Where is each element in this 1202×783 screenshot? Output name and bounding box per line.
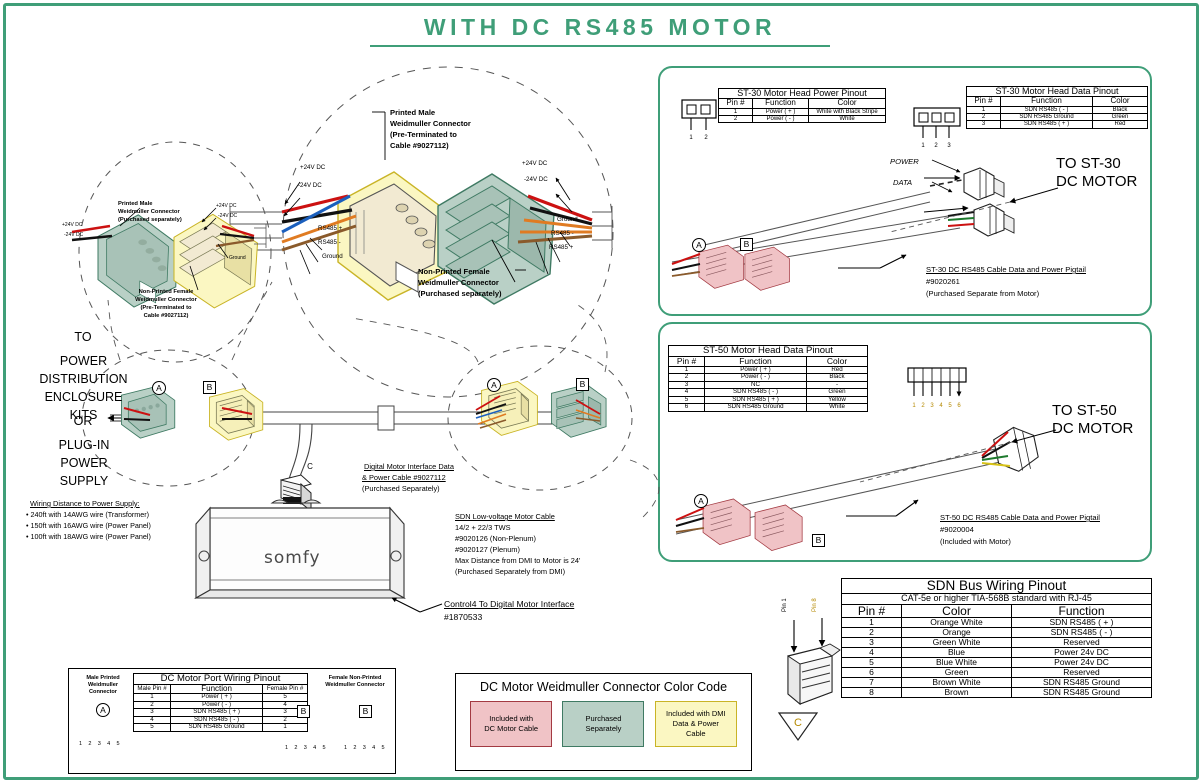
cell-color: Blue (902, 647, 1012, 657)
dmi-cable-title: Digital Motor Interface Data (364, 462, 454, 472)
callout-printed-male-purchased: Printed Male Weidmuller Connector (Purch… (118, 200, 182, 224)
badge-c: C (788, 717, 808, 734)
table-st30-power-pinout: ST-30 Motor Head Power Pinout Pin # Func… (718, 88, 886, 123)
sdn-cable-line-1: 14/2 + 22/3 TWS (455, 523, 511, 533)
table-st50-data-pinout: ST-50 Motor Head Data Pinout Pin # Funct… (668, 345, 868, 412)
st50-pigtail-note: (Included with Motor) (940, 537, 1011, 547)
legend-title: DC Motor Weidmuller Connector Color Code (456, 680, 751, 694)
dc-motor-port-box: Male Printed Weidmuller Connector A 1 2 … (68, 668, 396, 774)
cell-pin: 1 (719, 108, 753, 115)
cell-function: Power 24v DC (1012, 657, 1152, 667)
col-header-function: Function (1001, 97, 1093, 106)
wire-label-ground-right: Ground (557, 216, 578, 223)
table-dc-motor-port-pinout: DC Motor Port Wiring Pinout Male Pin # F… (133, 673, 308, 732)
rj45-pin8-label: Pin 8 (812, 598, 818, 612)
rj45-pin1-label: Pin 1 (782, 598, 788, 612)
table-row: 1 Orange White SDN RS485 ( + ) (842, 618, 1152, 628)
label-power-st30: POWER (890, 157, 919, 167)
legend-swatch-dmi-cable: Included with DMI Data & Power Cable (655, 701, 737, 747)
badge-b-left: B (297, 705, 310, 718)
col-header-function: Function (705, 356, 807, 366)
col-header-function: Function (753, 99, 809, 108)
wiring-distance-item-2: • 150ft with 16AWG wire (Power Panel) (26, 521, 151, 531)
callout-non-printed-female-connector: Non-Printed Female Weidmuller Connector … (418, 266, 502, 299)
control4-dmi-part: #1870533 (444, 612, 482, 624)
cell-pin: 2 (719, 116, 753, 123)
cell-color: Blue White (902, 657, 1012, 667)
cell-male-pin: 5 (134, 724, 171, 732)
badge-b-st30: B (740, 238, 753, 251)
col-header-color: Color (902, 604, 1012, 618)
wiring-distance-title: Wiring Distance to Power Supply: (30, 499, 140, 509)
cell-pin: 8 (842, 687, 902, 697)
cell-function: SDN RS485 Ground (1012, 687, 1152, 697)
wire-label-plus24-small: +24V DC (216, 203, 236, 209)
wire-label-ground-small: Ground (229, 255, 246, 261)
col-header-color: Color (809, 99, 886, 108)
cell-pin: 1 (842, 618, 902, 628)
table-st30-data-pinout: ST-30 Motor Head Data Pinout Pin # Funct… (966, 86, 1148, 129)
wire-label-minus24-right: -24V DC (524, 176, 548, 183)
cell-function: Power ( + ) (753, 108, 809, 115)
sdn-cable-title: SDN Low-voltage Motor Cable (455, 512, 555, 522)
col-header-pin: Pin # (967, 97, 1001, 106)
sdn-cable-line-5: (Purchased Separately from DMI) (455, 567, 565, 577)
cell-pin: 3 (842, 638, 902, 648)
table-subtitle: CAT-5e or higher TIA-568B standard with … (842, 594, 1152, 604)
callout-non-printed-female-preterminated: Non-Printed Female Weidmuller Connector … (108, 288, 224, 320)
cell-function: SDN RS485 Ground (1012, 677, 1152, 687)
table-row: 3 Green White Reserved (842, 638, 1152, 648)
cell-female-pin: 1 (263, 724, 308, 732)
cell-color: Green (902, 667, 1012, 677)
cell-function: SDN RS485 Ground (1001, 114, 1093, 121)
st30-pigtail-part: #9020261 (926, 277, 960, 287)
cell-color: White (807, 404, 868, 412)
cell-function: SDN RS485 ( - ) (1001, 106, 1093, 113)
cell-function: Reserved (1012, 638, 1152, 648)
wire-label-minus24-far-left: -24V DC (64, 232, 83, 238)
cell-function: Reserved (1012, 667, 1152, 677)
wiring-diagram-page: WITH DC RS485 MOTOR (0, 0, 1202, 783)
badge-c-main: C (300, 462, 320, 479)
st30-pigtail-note: (Purchased Separate from Motor) (926, 289, 1039, 299)
cell-function: SDN RS485 ( + ) (1001, 121, 1093, 128)
sdn-cable-line-4: Max Distance from DMI to Motor is 24' (455, 556, 580, 566)
table-title: ST-30 Motor Head Power Pinout (719, 89, 886, 99)
table-row: 2 Orange SDN RS485 ( - ) (842, 628, 1152, 638)
st50-pigtail-part: #9020004 (940, 525, 974, 535)
st30-pigtail-title: ST-30 DC RS485 Cable Data and Power Pigt… (926, 265, 1086, 275)
cell-function: SDN RS485 Ground (171, 724, 263, 732)
callout-printed-male-connector: Printed Male Weidmuller Connector (Pre-T… (390, 107, 471, 151)
wiring-distance-item-1: • 240ft with 14AWG wire (Transformer) (26, 510, 149, 520)
wire-label-rs485plus-left: RS485 + (318, 225, 342, 232)
table-row: 8 Brown SDN RS485 Ground (842, 687, 1152, 697)
wire-label-ground-left: Ground (322, 253, 343, 260)
table-row: 6 Green Reserved (842, 667, 1152, 677)
legend-swatch-dc-motor-cable: Included with DC Motor Cable (470, 701, 552, 747)
table-row: 6 SDN RS485 Ground White (669, 404, 868, 412)
table-title: DC Motor Port Wiring Pinout (134, 674, 308, 685)
cell-color: Orange (902, 628, 1012, 638)
wire-label-rs485plus-right: RS485 + (549, 244, 573, 251)
col-header-color: Color (807, 356, 868, 366)
wire-label-minus24-left: -24V DC (298, 182, 322, 189)
cell-color: Red (1093, 121, 1148, 128)
badge-b-main-right: B (576, 378, 589, 391)
cell-pin: 1 (967, 106, 1001, 113)
wire-label-plus24-far-left: +24V DC (62, 222, 82, 228)
label-to-st50-dc-motor: TO ST-50 DC MOTOR (1052, 402, 1133, 438)
label-to-st30-dc-motor: TO ST-30 DC MOTOR (1056, 155, 1137, 191)
col-header-pin: Pin # (719, 99, 753, 108)
page-title: WITH DC RS485 MOTOR (370, 14, 830, 47)
label-to: TO (28, 328, 138, 346)
cell-pin: 2 (842, 628, 902, 638)
badge-a: A (96, 703, 110, 717)
table-title: ST-30 Motor Head Data Pinout (967, 87, 1148, 97)
badge-a-st50: A (694, 494, 708, 508)
col-header-function: Function (1012, 604, 1152, 618)
wire-label-rs485minus-left: RS485 - (318, 239, 341, 246)
table-sdn-bus-pinout: SDN Bus Wiring Pinout CAT-5e or higher T… (841, 578, 1152, 698)
female-pin-numbers-right: 1 2 3 4 5 (344, 745, 387, 751)
female-pin-numbers-left: 1 2 3 4 5 (285, 745, 328, 751)
cell-pin: 5 (842, 657, 902, 667)
col-header-pin: Pin # (842, 604, 902, 618)
label-data-st30: DATA (893, 178, 912, 188)
cell-color: Green (1093, 114, 1148, 121)
sdn-cable-line-3: #9020127 (Plenum) (455, 545, 520, 555)
cell-color: White with Black Stripe (809, 108, 886, 115)
cell-function: SDN RS485 Ground (705, 404, 807, 412)
dmi-cable-part: & Power Cable #9027112 (362, 473, 446, 483)
badge-a-st30: A (692, 238, 706, 252)
label-plug-in-power-supply: PLUG-IN POWER SUPPLY (14, 436, 154, 490)
badge-a-main-right: A (487, 378, 501, 392)
somfy-brand-logo: somfy (264, 548, 321, 568)
table-row: 1 SDN RS485 ( - ) Black (967, 106, 1148, 113)
wire-label-plus24-right: +24V DC (522, 160, 547, 167)
legend-swatch-label: Purchased Separately (586, 714, 622, 734)
control4-dmi-title: Control4 To Digital Motor Interface (444, 599, 574, 611)
badge-b-main-left: B (203, 381, 216, 394)
table-row: 7 Brown White SDN RS485 Ground (842, 677, 1152, 687)
female-connector-caption: Female Non-Printed Weidmuller Connector (315, 675, 395, 689)
legend-swatch-label: Included with DMI Data & Power Cable (666, 709, 726, 739)
dmi-cable-note: (Purchased Separately) (362, 484, 440, 494)
st50-pigtail-title: ST-50 DC RS485 Cable Data and Power Pigt… (940, 513, 1100, 523)
cell-pin: 3 (967, 121, 1001, 128)
table-row: 4 Blue Power 24v DC (842, 647, 1152, 657)
color-code-legend: DC Motor Weidmuller Connector Color Code… (455, 673, 752, 771)
wire-label-minus24-small: -24V DC (218, 213, 237, 219)
sdn-cable-line-2: #9020126 (Non-Plenum) (455, 534, 536, 544)
cell-color: Orange White (902, 618, 1012, 628)
male-pin-numbers: 1 2 3 4 5 (79, 741, 122, 747)
cell-color: Brown White (902, 677, 1012, 687)
legend-swatch-label: Included with DC Motor Cable (484, 714, 538, 734)
table-row: 2 Power ( - ) White (719, 116, 886, 123)
male-connector-caption: Male Printed Weidmuller Connector (75, 675, 131, 696)
table-row: 2 SDN RS485 Ground Green (967, 114, 1148, 121)
cell-function: SDN RS485 ( - ) (1012, 628, 1152, 638)
table-title: ST-50 Motor Head Data Pinout (669, 346, 868, 357)
wiring-distance-item-3: • 100ft with 18AWG wire (Power Panel) (26, 532, 151, 542)
cell-function: Power ( - ) (753, 116, 809, 123)
wire-label-plus24-left: +24V DC (300, 164, 325, 171)
table-title: SDN Bus Wiring Pinout (842, 579, 1152, 594)
cell-pin: 6 (842, 667, 902, 677)
cell-function: Power 24v DC (1012, 647, 1152, 657)
label-or: OR (28, 412, 138, 430)
col-header-pin: Pin # (669, 356, 705, 366)
badge-a-main-left: A (152, 381, 166, 395)
cell-pin: 2 (967, 114, 1001, 121)
cell-pin: 6 (669, 404, 705, 412)
wire-label-rs485minus-right: RS485 - (551, 230, 574, 237)
cell-pin: 4 (842, 647, 902, 657)
cell-function: SDN RS485 ( + ) (1012, 618, 1152, 628)
col-header-color: Color (1093, 97, 1148, 106)
badge-b-st50: B (812, 534, 825, 547)
cell-color: Brown (902, 687, 1012, 697)
legend-swatch-purchased-separately: Purchased Separately (562, 701, 644, 747)
badge-b-right: B (359, 705, 372, 718)
cell-color: White (809, 116, 886, 123)
table-row: 5 Blue White Power 24v DC (842, 657, 1152, 667)
cell-pin: 7 (842, 677, 902, 687)
table-row: 5 SDN RS485 Ground 1 (134, 724, 308, 732)
table-row: 1 Power ( + ) White with Black Stripe (719, 108, 886, 115)
cell-color: Green White (902, 638, 1012, 648)
cell-color: Black (1093, 106, 1148, 113)
table-row: 3 SDN RS485 ( + ) Red (967, 121, 1148, 128)
